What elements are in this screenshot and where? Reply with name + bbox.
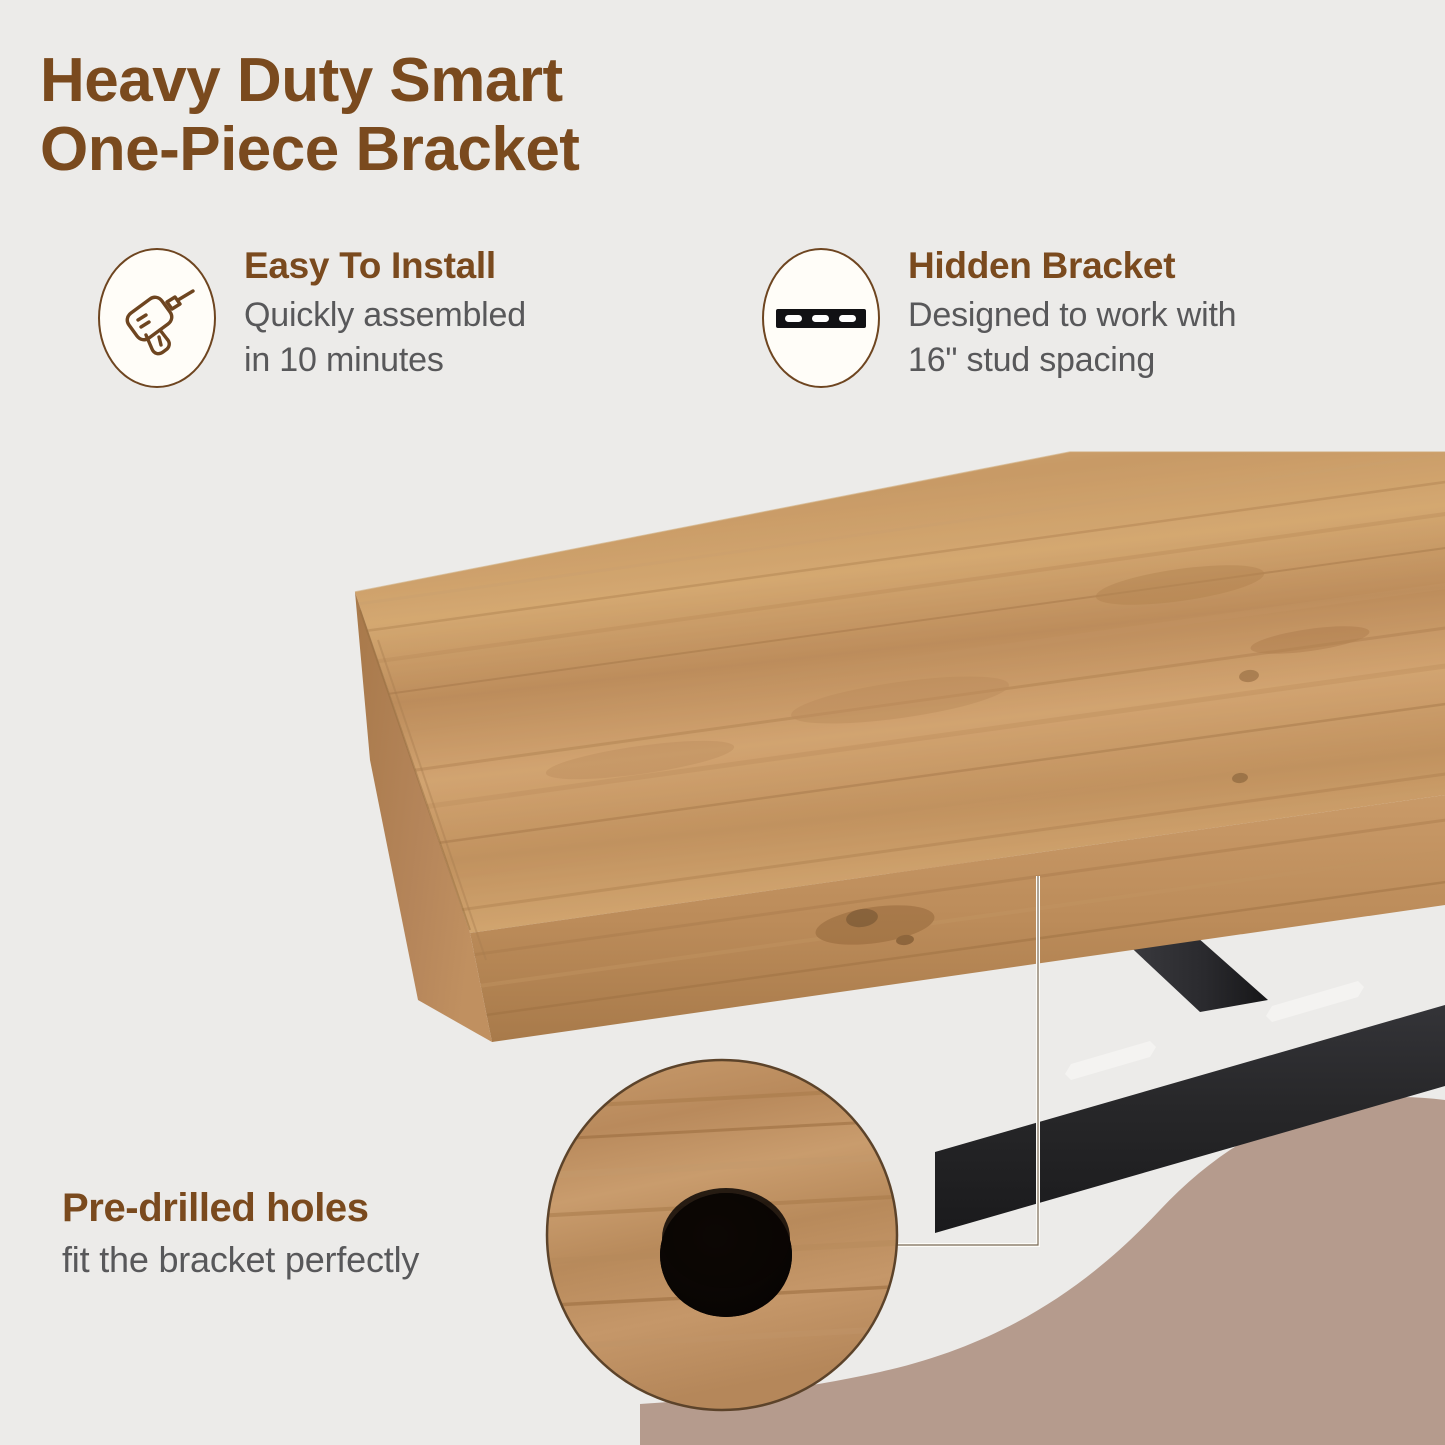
marketing-image-canvas: Heavy Duty Smart One-Piece Bracket [0, 0, 1445, 1445]
feature-text-block: Hidden Bracket Designed to work with 16"… [908, 240, 1236, 382]
predrilled-holes-caption: Pre-drilled holes fit the bracket perfec… [62, 1186, 582, 1282]
feature-item-hidden-bracket: Hidden Bracket Designed to work with 16"… [762, 240, 1236, 388]
feature-body-line-2: in 10 minutes [244, 338, 526, 383]
feature-body-line-2: 16" stud spacing [908, 338, 1236, 383]
feature-body: Designed to work with 16" stud spacing [908, 293, 1236, 383]
drill-icon [98, 248, 216, 388]
feature-list: Easy To Install Quickly assembled in 10 … [0, 240, 1445, 410]
feature-heading: Easy To Install [244, 246, 526, 287]
caption-heading: Pre-drilled holes [62, 1186, 582, 1231]
feature-heading: Hidden Bracket [908, 246, 1236, 287]
feature-item-easy-to-install: Easy To Install Quickly assembled in 10 … [98, 240, 526, 388]
title-line-2: One-Piece Bracket [40, 115, 860, 184]
feature-icon-badge [762, 248, 880, 388]
caption-body: fit the bracket perfectly [62, 1237, 582, 1282]
bracket-wall-bar [935, 981, 1445, 1233]
feature-text-block: Easy To Install Quickly assembled in 10 … [244, 240, 526, 382]
feature-body: Quickly assembled in 10 minutes [244, 293, 526, 383]
feature-body-line-1: Designed to work with [908, 293, 1236, 338]
feature-icon-badge [98, 248, 216, 388]
bracket-bar-icon [762, 248, 880, 388]
title-line-1: Heavy Duty Smart [40, 46, 563, 115]
page-title: Heavy Duty Smart One-Piece Bracket [40, 46, 860, 185]
magnifier-predrilled-hole [535, 1060, 910, 1410]
feature-body-line-1: Quickly assembled [244, 293, 526, 338]
